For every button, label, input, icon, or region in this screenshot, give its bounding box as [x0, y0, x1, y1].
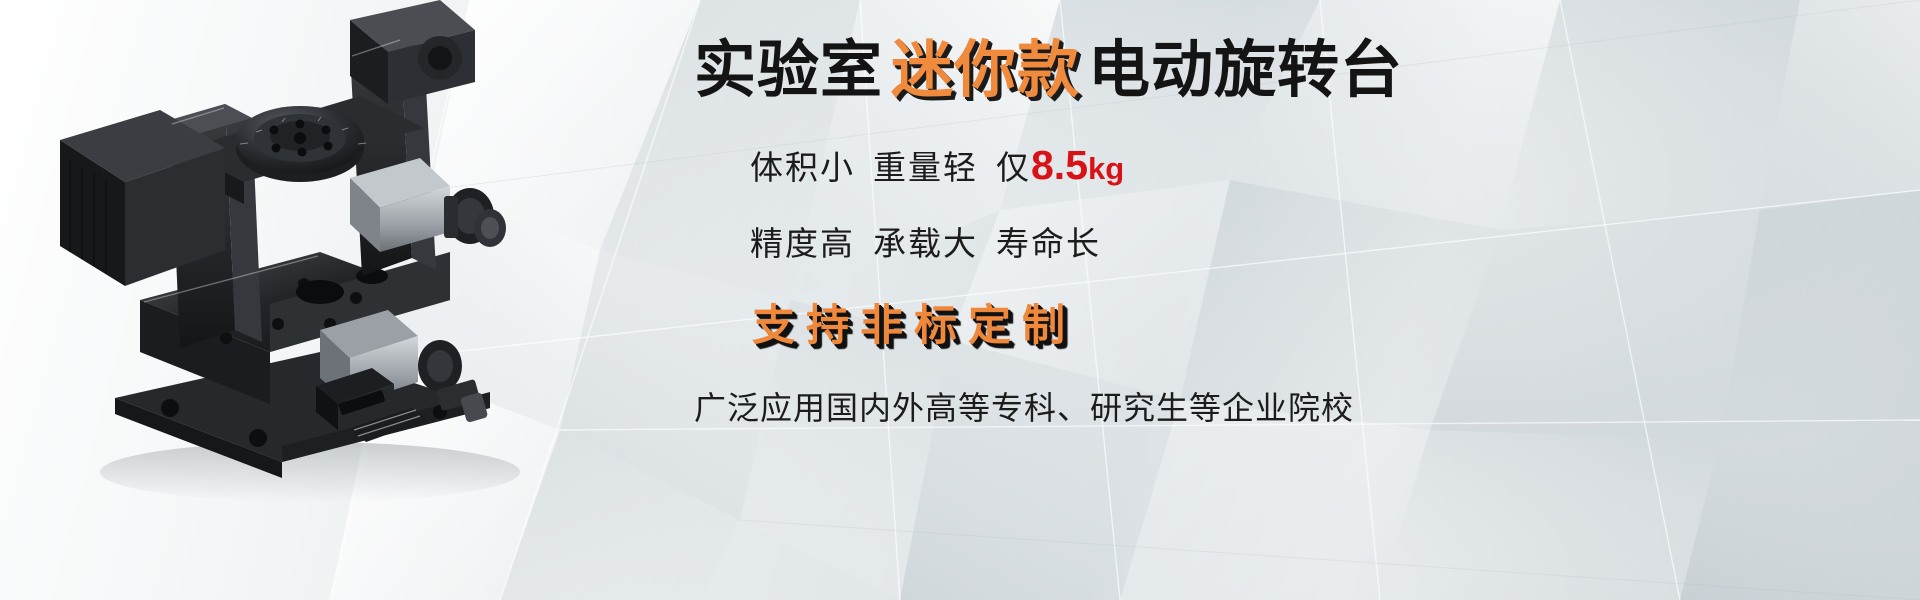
headline-accent: 迷你款 [883, 36, 1088, 105]
spec-line-2: 精度高承载大寿命长 [688, 189, 1888, 265]
headline-part2: 电动旋转台 [1088, 36, 1403, 105]
application-text: 广泛应用国内外高等专科、研究生等企业院校 [688, 353, 1888, 429]
spec-1-text-b: 重量轻 [873, 149, 978, 186]
custom-support-text: 支持非标定制 [688, 265, 1888, 353]
spec-line-1: 体积小重量轻仅8.5kg [688, 103, 1888, 189]
banner-headline: 实验室迷你款电动旋转台 [688, 24, 1888, 103]
spec-1-prefix: 仅 [996, 149, 1031, 186]
spec-2-text-a: 精度高 [750, 225, 855, 262]
weight-unit: kg [1088, 151, 1124, 186]
headline-part1: 实验室 [694, 36, 883, 105]
weight-value: 8.5 [1031, 142, 1088, 188]
marketing-copy: 实验室迷你款电动旋转台 体积小重量轻仅8.5kg 精度高承载大寿命长 支持非标定… [688, 24, 1888, 584]
spec-2-text-c: 寿命长 [996, 225, 1101, 262]
spec-2-text-b: 承载大 [873, 225, 978, 262]
spec-1-text-a: 体积小 [750, 149, 855, 186]
product-banner: 实验室迷你款电动旋转台 体积小重量轻仅8.5kg 精度高承载大寿命长 支持非标定… [0, 0, 1920, 600]
product-image [20, 0, 580, 520]
